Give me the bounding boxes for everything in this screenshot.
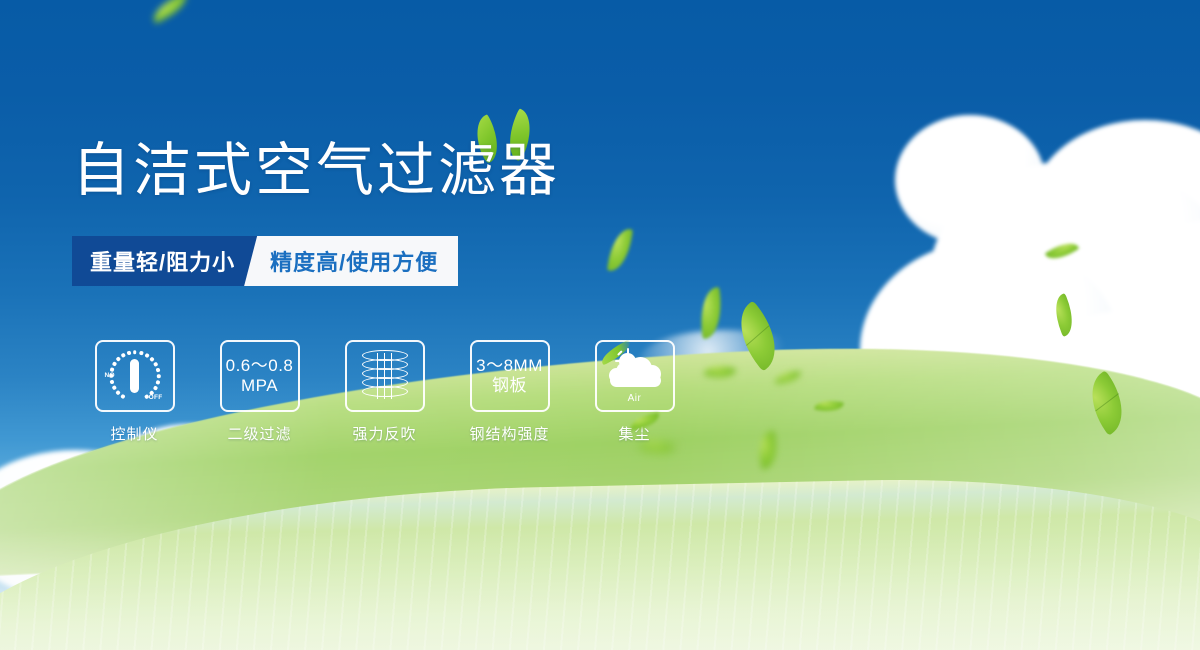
product-banner: 自洁式空气过滤器 重量轻/阻力小 精度高/使用方便 <box>0 0 1200 650</box>
feature-label: 钢结构强度 <box>469 423 549 444</box>
feature-item-strong-blowback[interactable]: 强力反吹 <box>322 340 447 444</box>
feature-label: 二级过滤 <box>227 423 291 444</box>
gauge-dial-icon: NO OFF <box>107 350 163 402</box>
gauge-label-off: OFF <box>149 394 163 401</box>
feature-icon-box: 0.6～0.8 MPA <box>220 340 300 412</box>
gauge-label-no: NO <box>105 372 115 379</box>
cloud-base <box>610 374 661 387</box>
gauge-needle <box>130 359 139 393</box>
feature-icon-box: NO OFF <box>95 340 175 412</box>
feature-item-controller[interactable]: NO OFF 控制仪 <box>72 340 197 444</box>
feature-icon-box <box>345 340 425 412</box>
feature-label: 控制仪 <box>110 423 158 444</box>
tagline-badge-left: 重量轻/阻力小 <box>72 236 257 286</box>
pressure-text-icon: 0.6～0.8 MPA <box>226 356 294 395</box>
feature-icon-box: Air <box>595 340 675 412</box>
coil-spring-icon <box>362 350 408 402</box>
thickness-material: 钢板 <box>476 376 543 396</box>
tagline-badge-right: 精度高/使用方便 <box>244 236 458 286</box>
air-label: Air <box>607 393 663 404</box>
pressure-unit: MPA <box>226 376 294 396</box>
thickness-text-icon: 3～8MM 钢板 <box>476 356 543 395</box>
pressure-value: 0.6～0.8 <box>226 356 294 376</box>
feature-item-steel-strength[interactable]: 3～8MM 钢板 钢结构强度 <box>447 340 572 444</box>
tagline-badge: 重量轻/阻力小 精度高/使用方便 <box>72 236 458 286</box>
feature-list: NO OFF 控制仪 0.6～0.8 MPA 二级过滤 <box>72 340 697 444</box>
page-title: 自洁式空气过滤器 <box>72 142 560 200</box>
cloud-sun-air-icon: Air <box>607 351 663 401</box>
thickness-value: 3～8MM <box>476 356 543 376</box>
feature-item-two-stage-filter[interactable]: 0.6～0.8 MPA 二级过滤 <box>197 340 322 444</box>
feature-label: 强力反吹 <box>352 423 416 444</box>
banner-content: 自洁式空气过滤器 重量轻/阻力小 精度高/使用方便 <box>0 0 1200 650</box>
feature-icon-box: 3～8MM 钢板 <box>470 340 550 412</box>
